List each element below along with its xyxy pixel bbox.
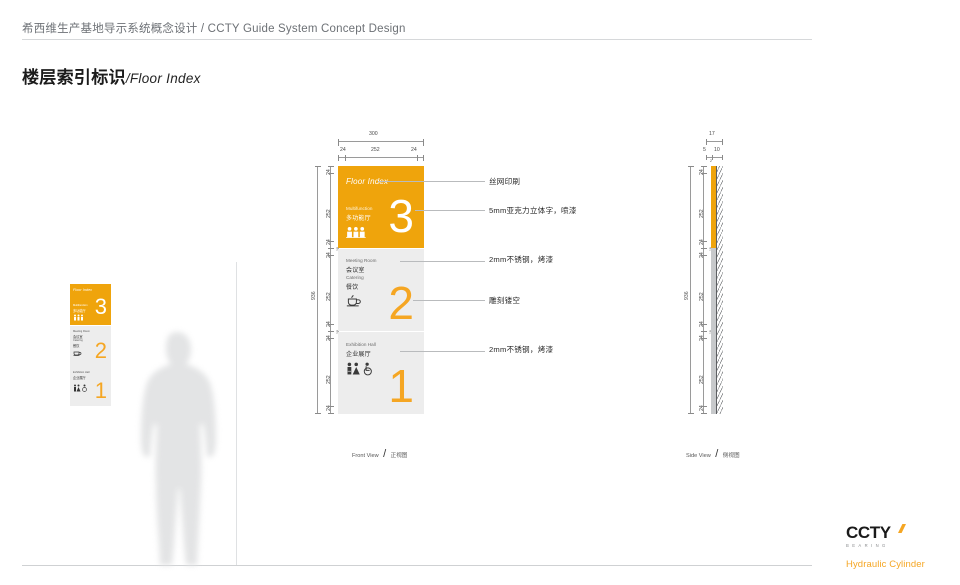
- mini-panel-3-en: Multifunction: [73, 304, 88, 307]
- panel-2-level-number: 2: [388, 285, 414, 322]
- leader-line-5: [400, 351, 485, 352]
- side-h-tick-7: [701, 338, 707, 339]
- side-h-tick-4: [701, 255, 707, 256]
- mini-sign-preview: Floor Index Multifunction 多功能厅 3 Meeting…: [70, 284, 111, 406]
- logo-accent-slash-icon: [898, 524, 906, 533]
- mini-panel-1-en: Exhibition Hall: [73, 371, 89, 374]
- page-title: 楼层索引标识/Floor Index: [22, 63, 201, 88]
- ground-line: [22, 565, 812, 566]
- annotation-2: 5mm亚克力立体字，喷漆: [489, 205, 577, 216]
- brand-logo: CCTY BEARING Hydraulic Cylinder: [846, 524, 925, 570]
- mini-level-3: 3: [95, 296, 107, 318]
- dim-chain-tick-3: [417, 155, 418, 161]
- side-dim-seg-2: 10: [714, 147, 720, 153]
- front-view-caption-en: Front View: [352, 453, 379, 459]
- dim-h-tick-8: [328, 406, 334, 407]
- side-height-tick-top: [688, 166, 694, 167]
- breadcrumb: 希西维生产基地导示系统概念设计 / CCTY Guide System Conc…: [22, 20, 406, 36]
- dim-width-tick-right: [423, 139, 424, 146]
- side-dim-h-8: 252: [699, 375, 705, 384]
- slide-canvas: 希西维生产基地导示系统概念设计 / CCTY Guide System Conc…: [0, 0, 960, 585]
- side-view-caption-slash: /: [715, 448, 718, 460]
- panel-3-name-en: Multifunction: [346, 206, 372, 211]
- panel-1-level-number: 1: [388, 368, 414, 405]
- side-dim-inner-mark: 2: [710, 159, 712, 163]
- side-h-tick-9: [701, 413, 707, 414]
- dim-h-tick-2: [328, 241, 334, 242]
- section-divider: [236, 262, 237, 565]
- mini-panel-1: Exhibition Hall 企业展厅 1: [70, 366, 111, 406]
- side-h-tick-8: [701, 406, 707, 407]
- panel-3-level-number: 3: [388, 198, 414, 235]
- page-title-cn: 楼层索引标识: [22, 68, 126, 87]
- annotation-4: 雕刻镂空: [489, 295, 520, 306]
- annotation-3: 2mm不锈钢，烤漆: [489, 254, 553, 265]
- mini-coffee-cup-icon: [73, 349, 82, 356]
- dim-width-seg-3: 24: [411, 147, 417, 153]
- dim-chain-tick-4: [423, 155, 424, 161]
- coffee-cup-icon: [346, 294, 363, 307]
- side-h-tick-0: [701, 166, 707, 167]
- dim-width-line: [338, 141, 424, 142]
- dim-height-tick-bottom: [315, 413, 321, 414]
- mini-panel-3-cn: 多功能厅: [73, 308, 86, 313]
- dim-h-8: 252: [326, 375, 332, 384]
- dim-width-tick-left: [338, 139, 339, 146]
- mini-panel-2: Meeting Room 会议室 Catering 餐饮 2: [70, 326, 111, 366]
- logo-subtitle: BEARING: [846, 543, 925, 548]
- dim-chain-tick-2: [345, 155, 346, 161]
- side-dim-seg-1: 5: [703, 147, 706, 153]
- side-dim-h-2: 252: [699, 209, 705, 218]
- mini-level-1: 1: [95, 380, 107, 402]
- logo-tagline: Hydraulic Cylinder: [846, 559, 925, 570]
- dim-h-tick-0: [328, 166, 334, 167]
- leader-line-1: [378, 181, 485, 182]
- panel-2-name-en: Meeting Room: [346, 258, 376, 263]
- side-dim-tick-l: [706, 139, 707, 145]
- panel-2-name-cn: 会议室: [346, 265, 365, 274]
- leader-line-3: [400, 261, 485, 262]
- logo-wordmark-text: CCTY: [846, 523, 891, 542]
- people-group-icon: [346, 226, 370, 238]
- dim-h-2: 252: [326, 209, 332, 218]
- dim-h-tick-4: [328, 255, 334, 256]
- dim-h-tick-3: [328, 248, 334, 249]
- side-dim-chain-line: [706, 157, 723, 158]
- panel-2-name-cn2: 餐饮: [346, 282, 358, 291]
- side-view-caption-en: Side View: [686, 453, 711, 459]
- side-h-tick-6: [701, 331, 707, 332]
- mini-panel-2-en: Meeting Room: [73, 330, 90, 333]
- sign-panel-level-1: Exhibition Hall 企业展厅 1: [338, 332, 424, 414]
- dim-overall-width: 300: [369, 131, 378, 137]
- page-title-en: Floor Index: [130, 71, 201, 86]
- side-view-wall-edge: [716, 166, 717, 414]
- leader-line-4: [413, 300, 485, 301]
- annotation-5: 2mm不锈钢，烤漆: [489, 344, 553, 355]
- mini-panel-2-cn2: 餐饮: [73, 343, 79, 348]
- mini-sign-header: Floor Index: [73, 288, 92, 292]
- mini-people-group-icon: [73, 314, 87, 321]
- side-view-caption-cn: 侧视图: [723, 453, 740, 459]
- mini-level-2: 2: [95, 340, 107, 362]
- dim-h-tick-9: [328, 413, 334, 414]
- header-divider: [22, 39, 812, 40]
- side-chain-tick-1: [706, 155, 707, 160]
- front-view-sign: Floor Index Multifunction 多功能厅 3 Meeting…: [338, 166, 424, 414]
- side-dim-h-5: 252: [699, 292, 705, 301]
- dim-width-chain-line: [338, 157, 424, 158]
- side-dim-tick-r: [722, 139, 723, 145]
- side-chain-tick-3: [722, 155, 723, 160]
- mini-panel-2-en2: Catering: [73, 339, 83, 342]
- side-h-tick-2: [701, 241, 707, 242]
- front-view-caption-cn: 正视图: [391, 453, 408, 459]
- front-view-caption: Front View / 正视图: [352, 444, 407, 462]
- restroom-accessible-icon: [346, 362, 376, 376]
- side-h-tick-1: [701, 173, 707, 174]
- panel-1-name-en: Exhibition Hall: [346, 342, 376, 347]
- dim-h-tick-1: [328, 173, 334, 174]
- side-h-tick-3: [701, 248, 707, 249]
- side-height-tick-bottom: [688, 413, 694, 414]
- side-view-wall-hatch: [716, 166, 723, 414]
- dim-width-seg-2: 252: [371, 147, 380, 153]
- panel-3-name-cn: 多功能厅: [346, 213, 371, 222]
- dim-height-tick-top: [315, 166, 321, 167]
- side-dim-overall-depth: 17: [709, 131, 715, 137]
- mini-panel-3: Floor Index Multifunction 多功能厅 3: [70, 284, 111, 325]
- leader-line-2: [415, 210, 485, 211]
- dim-height-line: [317, 166, 318, 414]
- dim-h-tick-7: [328, 338, 334, 339]
- mini-panel-1-cn: 企业展厅: [73, 375, 86, 380]
- dim-chain-tick-1: [338, 155, 339, 161]
- sign-panel-level-3: Floor Index Multifunction 多功能厅 3: [338, 166, 424, 248]
- dim-h-5: 252: [326, 292, 332, 301]
- human-scale-silhouette: [135, 330, 219, 565]
- side-dim-depth-line: [706, 141, 723, 142]
- side-h-tick-5: [701, 324, 707, 325]
- mini-restroom-accessible-icon: [73, 384, 89, 392]
- front-view-caption-slash: /: [383, 448, 386, 460]
- panel-2-name-en2: Catering: [346, 275, 364, 280]
- annotation-1: 丝网印刷: [489, 176, 520, 187]
- dim-h-tick-6: [328, 331, 334, 332]
- side-chain-tick-2: [712, 155, 713, 160]
- dim-h-tick-5: [328, 324, 334, 325]
- logo-wordmark: CCTY: [846, 524, 925, 541]
- side-dim-height-line: [690, 166, 691, 414]
- side-view-caption: Side View / 侧视图: [686, 444, 740, 462]
- dim-width-seg-1: 24: [340, 147, 346, 153]
- panel-1-name-cn: 企业展厅: [346, 349, 371, 358]
